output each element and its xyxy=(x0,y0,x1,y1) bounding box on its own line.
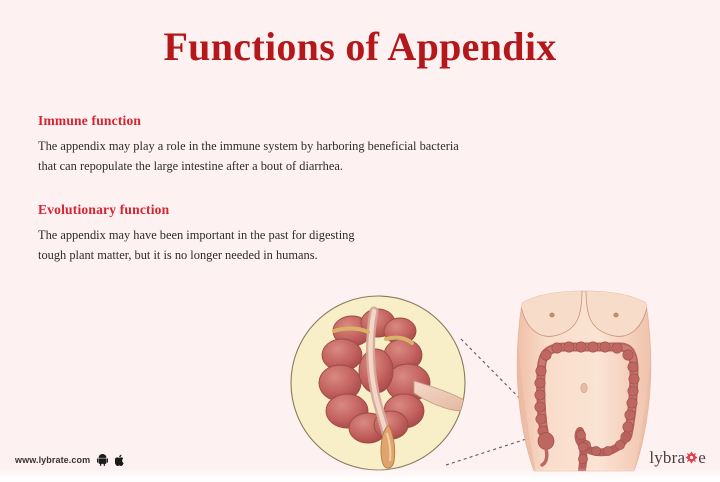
section-body-line: The appendix may have been important in … xyxy=(38,225,598,245)
section-body-line: The appendix may play a role in the immu… xyxy=(38,136,598,156)
site-url[interactable]: www.lybrate.com xyxy=(15,455,90,465)
navel xyxy=(581,384,587,393)
cross-mark-icon xyxy=(685,449,698,462)
section-body-line: tough plant matter, but it is no longer … xyxy=(38,245,598,265)
brand-logo-suffix: e xyxy=(698,448,706,468)
poster-canvas: Functions of Appendix Immune function Th… xyxy=(0,0,720,482)
section-body: The appendix may play a role in the immu… xyxy=(38,136,598,176)
human-abdomen xyxy=(514,290,656,471)
page-title: Functions of Appendix xyxy=(0,24,720,70)
nipple-right xyxy=(613,313,618,318)
footer-left: www.lybrate.com xyxy=(15,454,125,466)
section-heading: Immune function xyxy=(38,113,598,129)
brand-logo[interactable]: lybra e xyxy=(649,448,706,468)
section-body: The appendix may have been important in … xyxy=(38,225,598,265)
section-body-line: that can repopulate the large intestine … xyxy=(38,156,598,176)
apple-icon[interactable] xyxy=(115,454,125,466)
brand-logo-prefix: lybra xyxy=(649,448,685,468)
section-evolutionary-function: Evolutionary function The appendix may h… xyxy=(38,202,598,265)
nipple-left xyxy=(549,313,554,318)
magnified-appendix-inset xyxy=(291,296,469,470)
section-immune-function: Immune function The appendix may play a … xyxy=(38,113,598,176)
android-icon[interactable] xyxy=(97,454,108,466)
section-heading: Evolutionary function xyxy=(38,202,598,218)
